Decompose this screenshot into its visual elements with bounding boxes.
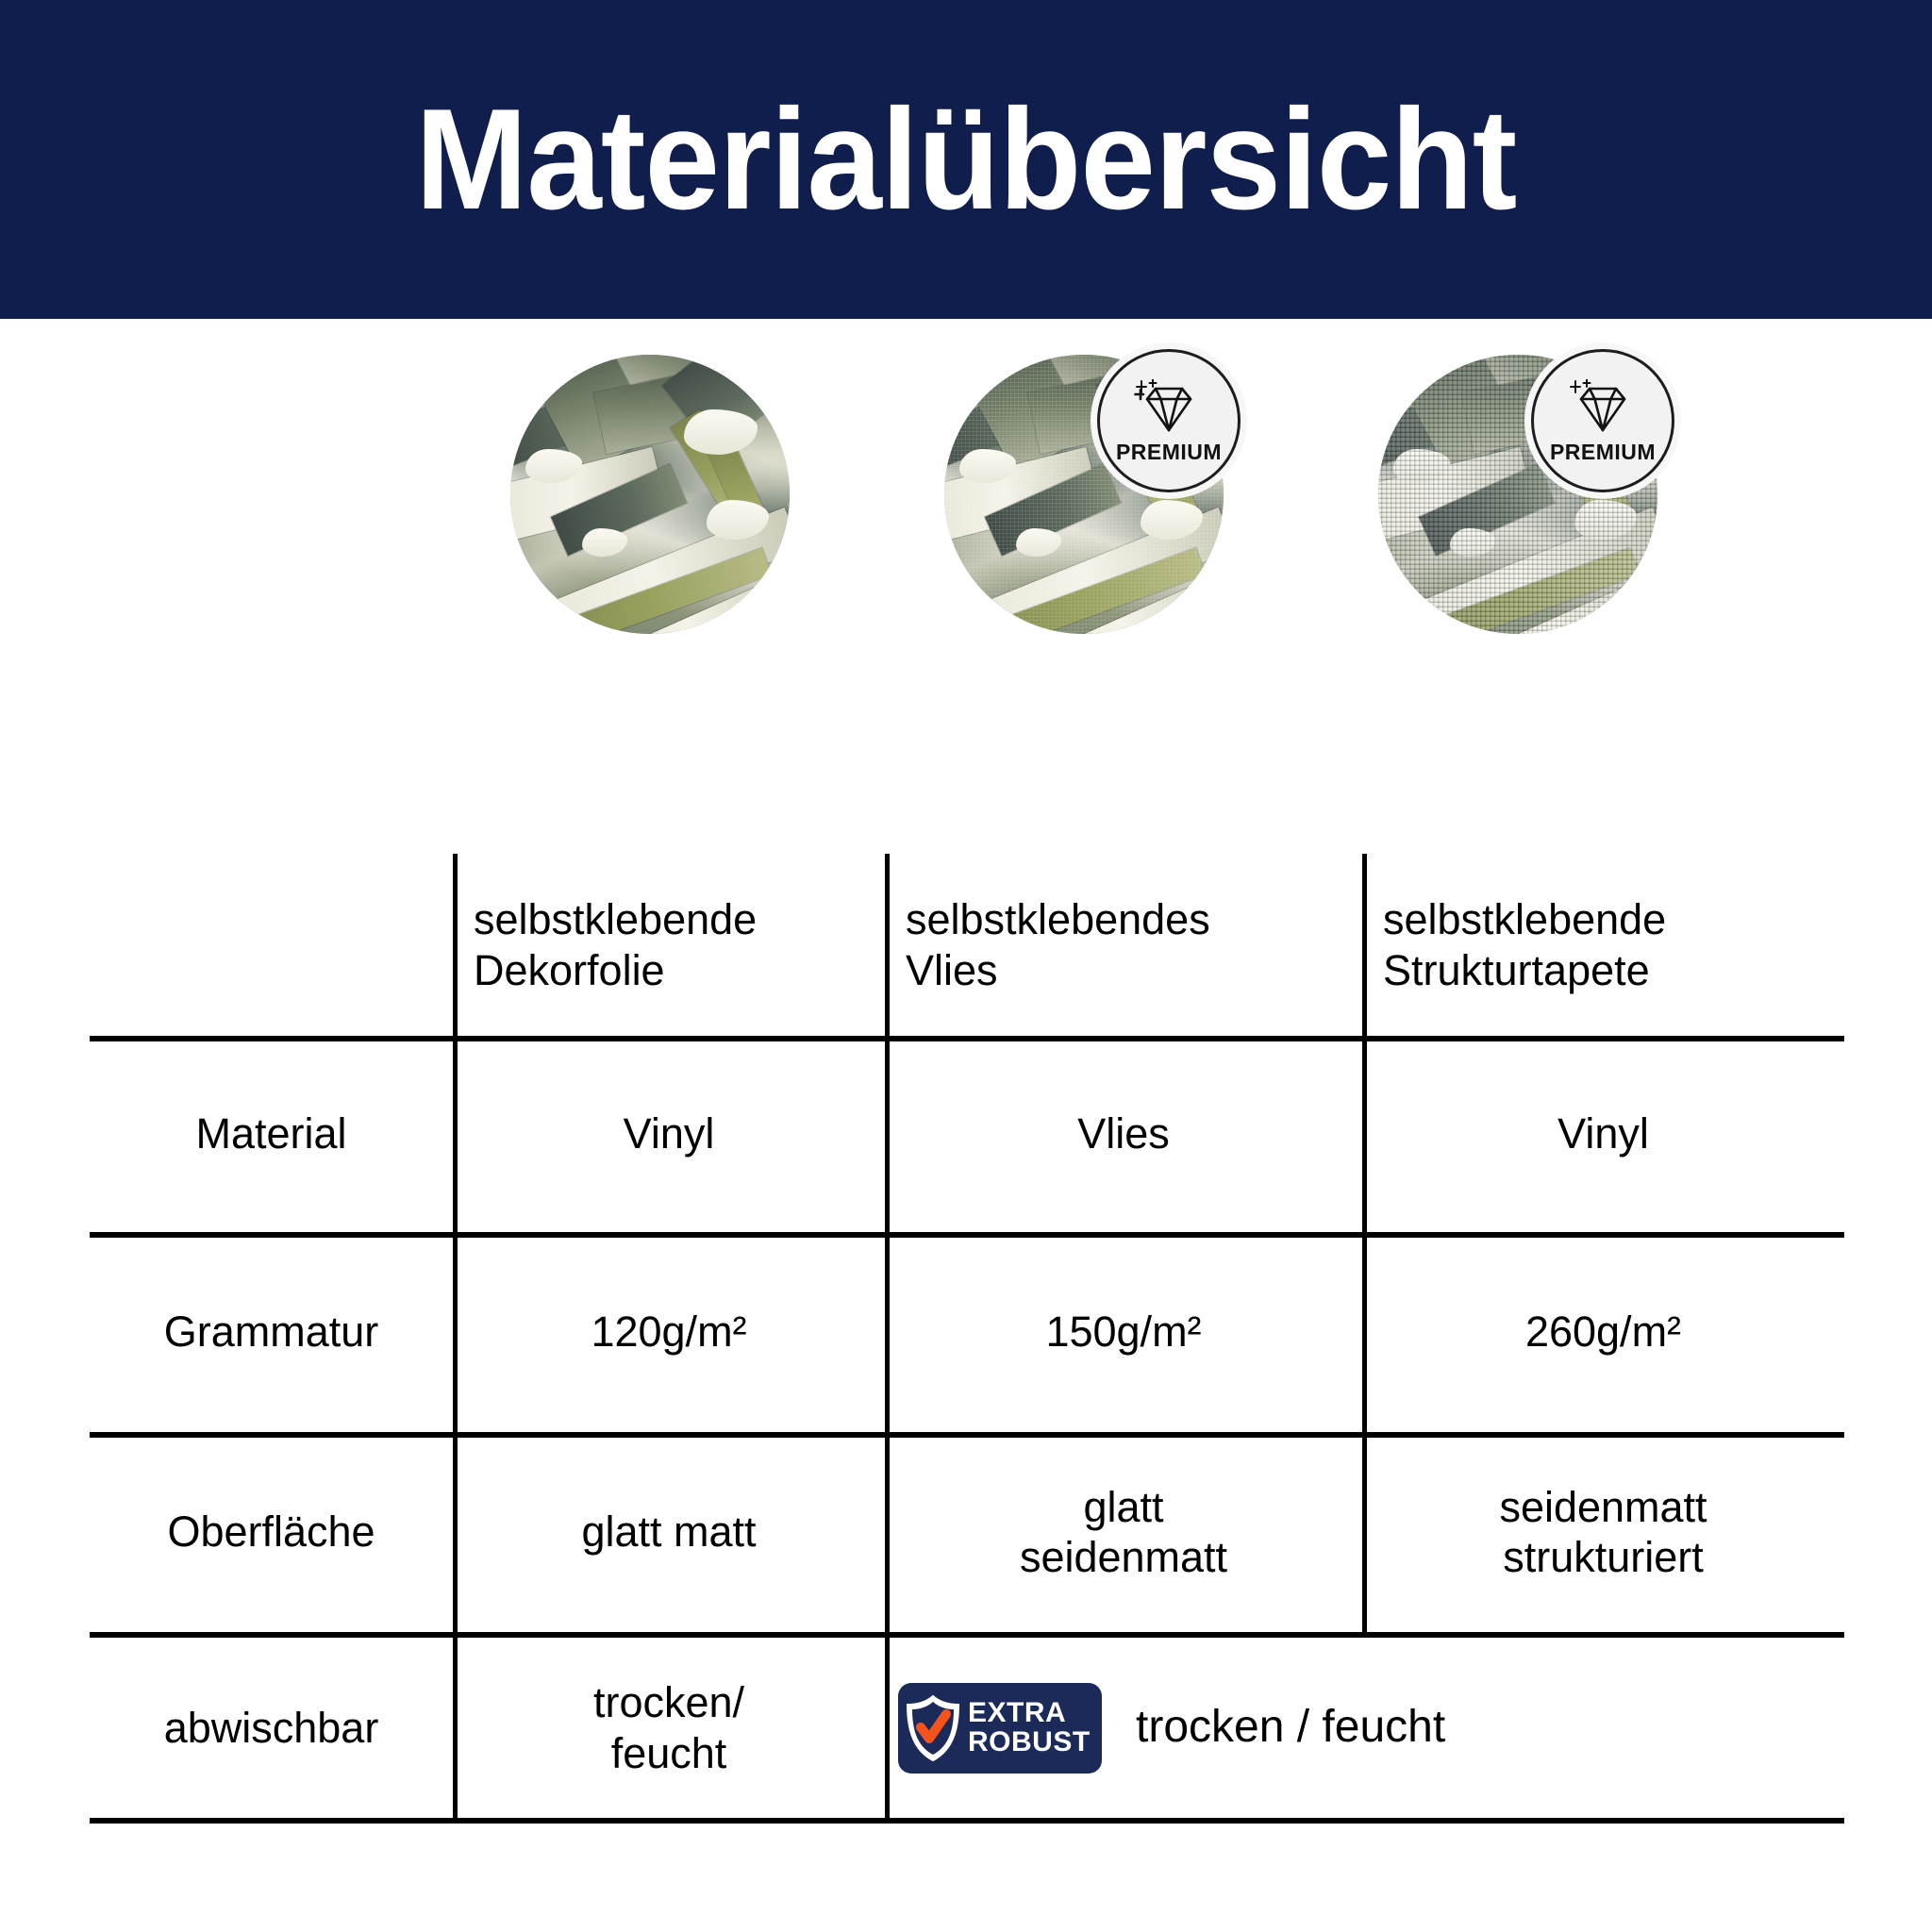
table-vrule — [885, 854, 890, 1824]
extra-robust-badge: EXTRA ROBUST — [898, 1683, 1102, 1774]
row-label-material: Material — [90, 1036, 453, 1232]
table-vrule — [453, 854, 458, 1824]
table-row: Material Vinyl Vlies Vinyl — [90, 1036, 1844, 1232]
product-preview-strukturtapete: PREMIUM — [1378, 355, 1657, 634]
table-hrule — [90, 1036, 1844, 1041]
cell-material-strukturtapete: Vinyl — [1362, 1036, 1844, 1232]
cell-abwischbar-merged-text: trocken / feucht — [1136, 1701, 1445, 1755]
cell-oberflaeche-strukturtapete: seidenmatt strukturiert — [1362, 1432, 1844, 1632]
column-header-strukturtapete: selbstklebende Strukturtapete — [1362, 854, 1844, 1036]
table-hrule — [90, 1232, 1844, 1238]
premium-badge-label: PREMIUM — [1116, 441, 1222, 463]
table-row: abwischbar trocken/ feucht EXTRA ROBUST … — [90, 1632, 1844, 1824]
page-header-bar: Materialübersicht — [0, 0, 1932, 319]
column-header-line1: selbstklebende — [1383, 894, 1666, 944]
table-corner-cell — [90, 854, 453, 1036]
page-title: Materialübersicht — [415, 88, 1516, 231]
diamond-icon — [1134, 379, 1204, 440]
cell-abwischbar-dekorfolie: trocken/ feucht — [453, 1632, 885, 1824]
cell-oberflaeche-vlies: glatt seidenmatt — [885, 1432, 1362, 1632]
product-preview-vlies: PREMIUM — [944, 355, 1224, 634]
row-label-grammatur: Grammatur — [90, 1232, 453, 1432]
table-hrule — [90, 1632, 1844, 1638]
table-row: Grammatur 120g/m² 150g/m² 260g/m² — [90, 1232, 1844, 1432]
column-header-vlies: selbstklebendes Vlies — [885, 854, 1362, 1036]
diamond-icon — [1568, 379, 1638, 440]
column-header-line2: Strukturtapete — [1383, 945, 1666, 995]
material-overview-page: Materialübersicht — [0, 0, 1932, 1932]
table-hrule — [90, 1432, 1844, 1438]
cell-grammatur-vlies: 150g/m² — [885, 1232, 1362, 1432]
cell-grammatur-dekorfolie: 120g/m² — [453, 1232, 885, 1432]
cell-material-dekorfolie: Vinyl — [453, 1036, 885, 1232]
column-header-dekorfolie: selbstklebende Dekorfolie — [453, 854, 885, 1036]
table-row: Oberfläche glatt matt glatt seidenmatt s… — [90, 1432, 1844, 1632]
cell-abwischbar-merged: EXTRA ROBUST trocken / feucht — [885, 1632, 1844, 1824]
cell-material-vlies: Vlies — [885, 1036, 1362, 1232]
material-spec-table: selbstklebende Dekorfolie selbstklebende… — [90, 854, 1844, 1824]
product-preview-dekorfolie — [510, 355, 790, 634]
cell-oberflaeche-dekorfolie: glatt matt — [453, 1432, 885, 1632]
column-header-line1: selbstklebendes — [906, 894, 1210, 944]
premium-badge-label: PREMIUM — [1550, 441, 1656, 463]
cell-grammatur-strukturtapete: 260g/m² — [1362, 1232, 1844, 1432]
shield-check-icon — [904, 1693, 962, 1763]
premium-badge-vlies: PREMIUM — [1097, 349, 1241, 492]
column-header-line2: Vlies — [906, 945, 1210, 995]
row-label-oberflaeche: Oberfläche — [90, 1432, 453, 1632]
column-header-line2: Dekorfolie — [474, 945, 757, 995]
row-label-abwischbar: abwischbar — [90, 1632, 453, 1824]
table-header-row: selbstklebende Dekorfolie selbstklebende… — [90, 854, 1844, 1036]
extra-robust-line2: ROBUST — [968, 1728, 1091, 1757]
table-vrule — [1362, 854, 1367, 1632]
table-hrule — [90, 1818, 1844, 1824]
product-image-dekorfolie — [510, 355, 790, 634]
extra-robust-line1: EXTRA — [968, 1699, 1091, 1728]
premium-badge-strukturtapete: PREMIUM — [1531, 349, 1674, 492]
column-header-line1: selbstklebende — [474, 894, 757, 944]
